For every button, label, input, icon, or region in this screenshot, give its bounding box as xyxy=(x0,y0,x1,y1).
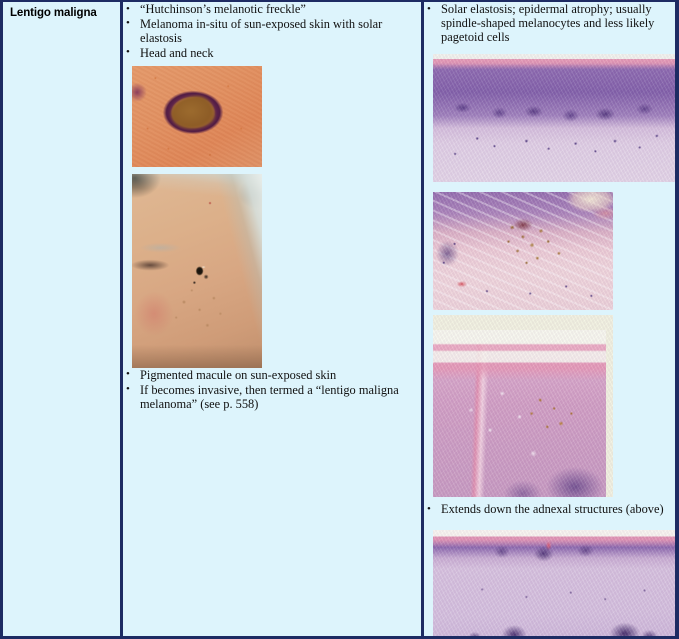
list-item: If becomes invasive, then termed a “lent… xyxy=(123,383,421,411)
histology-caption-list: Extends down the adnexal structures (abo… xyxy=(424,502,679,517)
histology-column: Solar elastosis; epidermal atrophy; usua… xyxy=(424,2,679,636)
clinical-feature-list: “Hutchinson’s melanotic freckle” Melanom… xyxy=(123,2,421,60)
histology-high-power-melanin-image xyxy=(433,192,613,310)
histology-adnexal-extension-image xyxy=(433,530,679,638)
entity-title: Lentigo maligna xyxy=(3,2,120,19)
histology-atrophic-epidermis-image xyxy=(433,315,613,497)
list-item: Solar elastosis; epidermal atrophy; usua… xyxy=(424,2,679,45)
clinical-face-photo-image xyxy=(132,174,262,368)
list-item: Pigmented macule on sun-exposed skin xyxy=(123,368,421,382)
clinical-column: “Hutchinson’s melanotic freckle” Melanom… xyxy=(123,2,421,636)
histology-low-power-epidermis-image xyxy=(433,54,679,182)
histology-feature-list: Solar elastosis; epidermal atrophy; usua… xyxy=(424,2,679,45)
clinical-caption-list: Pigmented macule on sun-exposed skin If … xyxy=(123,368,421,411)
list-item: “Hutchinson’s melanotic freckle” xyxy=(123,2,421,16)
dermoscopy-pigmented-lesion-image xyxy=(132,66,262,167)
lesion-core xyxy=(171,96,215,129)
list-item: Head and neck xyxy=(123,46,421,60)
textbook-table-page: Lentigo maligna “Hutchinson’s melanotic … xyxy=(0,0,679,639)
entity-column: Lentigo maligna xyxy=(3,2,120,636)
histology-tissue-area xyxy=(433,330,606,497)
list-item: Extends down the adnexal structures (abo… xyxy=(424,502,679,516)
list-item: Melanoma in-situ of sun-exposed skin wit… xyxy=(123,17,421,45)
